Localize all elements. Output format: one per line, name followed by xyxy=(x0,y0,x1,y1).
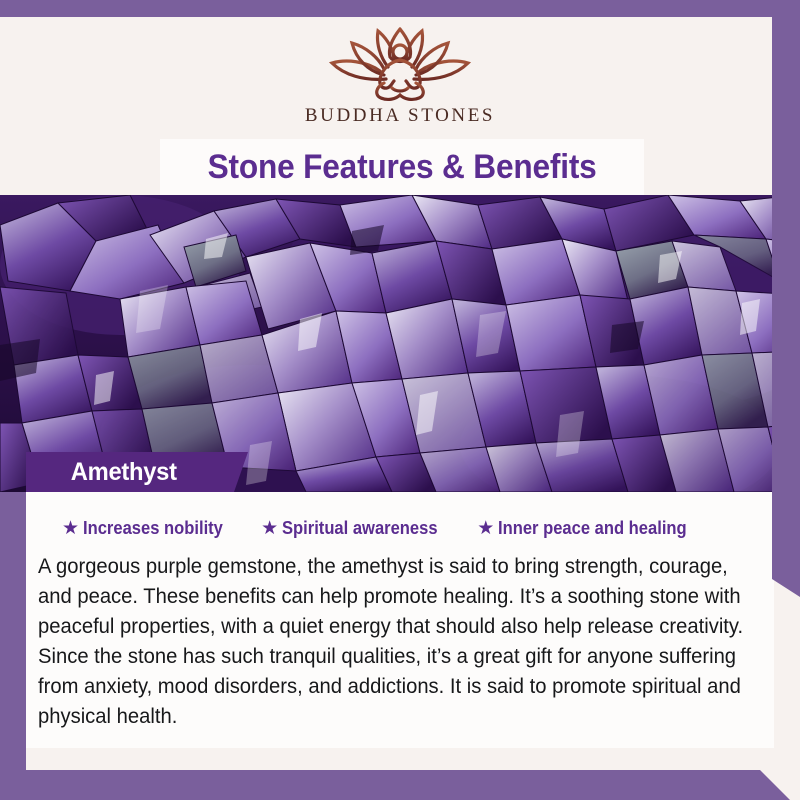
stone-info-panel: ★ Increases nobility ★ Spiritual awarene… xyxy=(26,492,774,748)
lotus-meditation-figure-icon xyxy=(324,25,476,103)
page-title: Stone Features & Benefits xyxy=(208,148,597,187)
feature-label: Spiritual awareness xyxy=(282,518,438,539)
frame-top-bar xyxy=(0,0,800,17)
frame-right-bar xyxy=(772,0,800,597)
brand-wordmark: BUDDHA STONES xyxy=(305,105,495,127)
star-icon: ★ xyxy=(477,519,494,538)
stone-name-label: Amethyst xyxy=(71,458,177,487)
amethyst-crystal-cluster-photo xyxy=(0,195,800,492)
feature-list: ★ Increases nobility ★ Spiritual awarene… xyxy=(26,492,774,539)
stone-name-ribbon: Amethyst xyxy=(26,452,248,492)
feature-label: Increases nobility xyxy=(83,518,223,539)
brand-header: BUDDHA STONES xyxy=(0,17,800,139)
feature-item-increases-nobility: ★ Increases nobility xyxy=(62,518,235,539)
frame-bottom-bar xyxy=(0,770,800,800)
feature-label: Inner peace and healing xyxy=(498,518,687,539)
product-feature-card: BUDDHA STONES Stone Features & Benefits xyxy=(0,0,800,800)
star-icon: ★ xyxy=(62,519,79,538)
stone-description: A gorgeous purple gemstone, the amethyst… xyxy=(38,551,762,731)
feature-item-inner-peace-and-healing: ★ Inner peace and healing xyxy=(477,518,703,539)
star-icon: ★ xyxy=(261,519,278,538)
frame-left-bar xyxy=(0,492,26,800)
banner-title-band: Stone Features & Benefits xyxy=(160,139,644,195)
feature-item-spiritual-awareness: ★ Spiritual awareness xyxy=(261,518,451,539)
